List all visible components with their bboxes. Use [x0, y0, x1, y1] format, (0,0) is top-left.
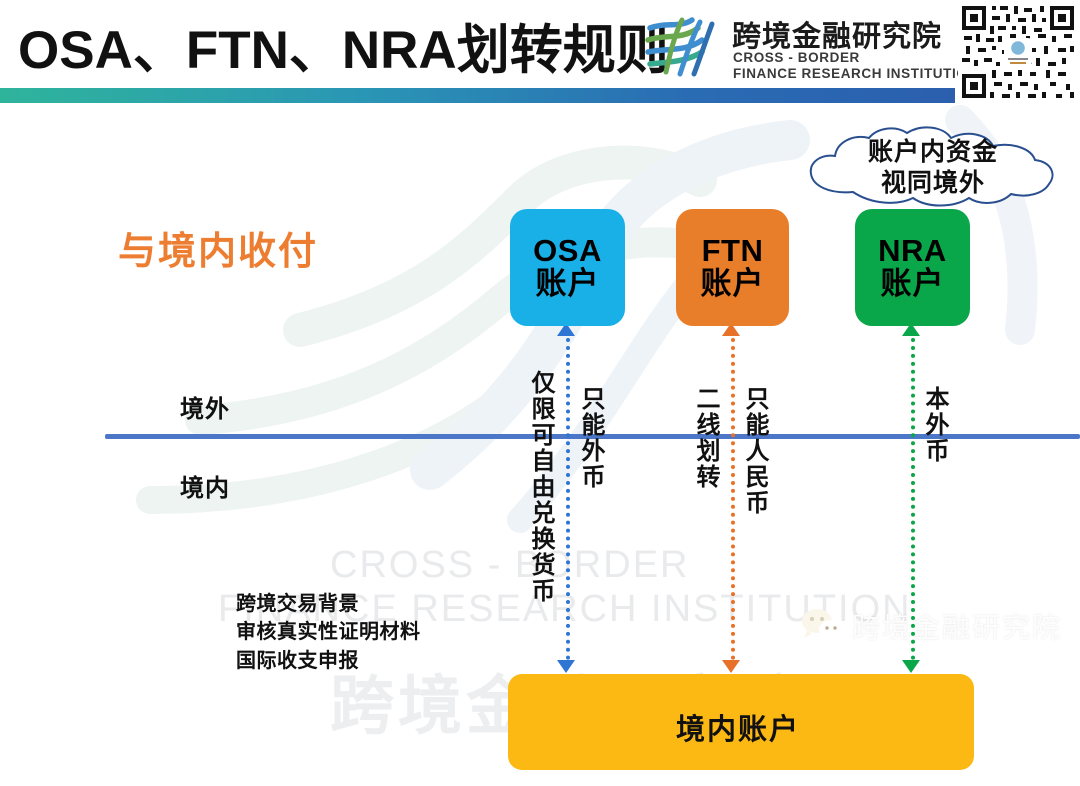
connector-osa [566, 338, 570, 668]
requirement-note-1: 跨境交易背景 [236, 590, 421, 618]
brand-name-cn: 跨境金融研究院 [732, 13, 942, 55]
qr-code-icon[interactable] [958, 2, 1078, 102]
annotation-nra-right: 本外币 [922, 386, 946, 464]
cross-border-swoosh-logo-icon [640, 14, 720, 80]
wechat-icon [800, 608, 846, 644]
annotation-osa-right: 只能外币 [578, 386, 602, 490]
domestic-account-label: 境内账户 [676, 706, 800, 748]
annotation-ftn-right: 只能人民币 [742, 386, 766, 516]
account-box-nra-zh: 账户 [881, 268, 945, 301]
requirement-notes: 跨境交易背景 审核真实性证明材料 国际收支申报 [236, 590, 421, 675]
label-onshore: 境内 [180, 468, 230, 503]
wechat-watermark-name: 跨境金融研究院 [852, 606, 1062, 646]
connector-ftn-arrow-down [722, 660, 740, 673]
account-box-osa-code: OSA [533, 235, 602, 268]
cloud-text-line1: 账户内资金 [838, 137, 1028, 168]
label-offshore: 境外 [180, 389, 230, 424]
cloud-text-line2: 视同境外 [838, 168, 1028, 199]
account-box-nra[interactable]: NRA 账户 [855, 209, 970, 326]
connector-nra-arrow-down [902, 660, 920, 673]
annotation-ftn-left: 二线划转 [693, 386, 717, 490]
slide-root: CROSS - BORDER FINANCE RESEARCH INSTITUT… [0, 0, 1080, 786]
account-box-osa[interactable]: OSA 账户 [510, 209, 625, 326]
page-title: OSA、FTN、NRA划转规则 [18, 8, 669, 84]
brand-name-en-line1: CROSS - BORDER [733, 50, 860, 65]
account-box-osa-zh: 账户 [536, 268, 600, 301]
section-title-domestic-settlement: 与境内收付 [118, 220, 318, 275]
wechat-watermark: 跨境金融研究院 [800, 604, 1070, 650]
account-box-ftn-zh: 账户 [701, 268, 765, 301]
account-box-ftn-code: FTN [702, 235, 764, 268]
brand-lockup: 跨境金融研究院 CROSS - BORDER FINANCE RESEARCH … [640, 6, 960, 88]
diagram-canvas: 与境内收付 境外 境内 跨境交易背景 审核真实性证明材料 国际收支申报 账户内资… [0, 112, 1080, 786]
header-accent-bar [0, 88, 955, 103]
brand-name-en-line2: FINANCE RESEARCH INSTITUTION [733, 66, 978, 81]
cloud-text: 账户内资金 视同境外 [838, 137, 1028, 200]
requirement-note-2: 审核真实性证明材料 [236, 618, 421, 646]
account-box-nra-code: NRA [878, 235, 947, 268]
header: OSA、FTN、NRA划转规则 跨境金融研究院 CROSS - BORDER F… [0, 0, 1080, 112]
account-box-ftn[interactable]: FTN 账户 [676, 209, 789, 326]
connector-osa-arrow-down [557, 660, 575, 673]
annotation-osa-left: 仅限可自由兑换货币 [528, 370, 552, 604]
requirement-note-3: 国际收支申报 [236, 647, 421, 675]
connector-ftn [731, 338, 735, 668]
